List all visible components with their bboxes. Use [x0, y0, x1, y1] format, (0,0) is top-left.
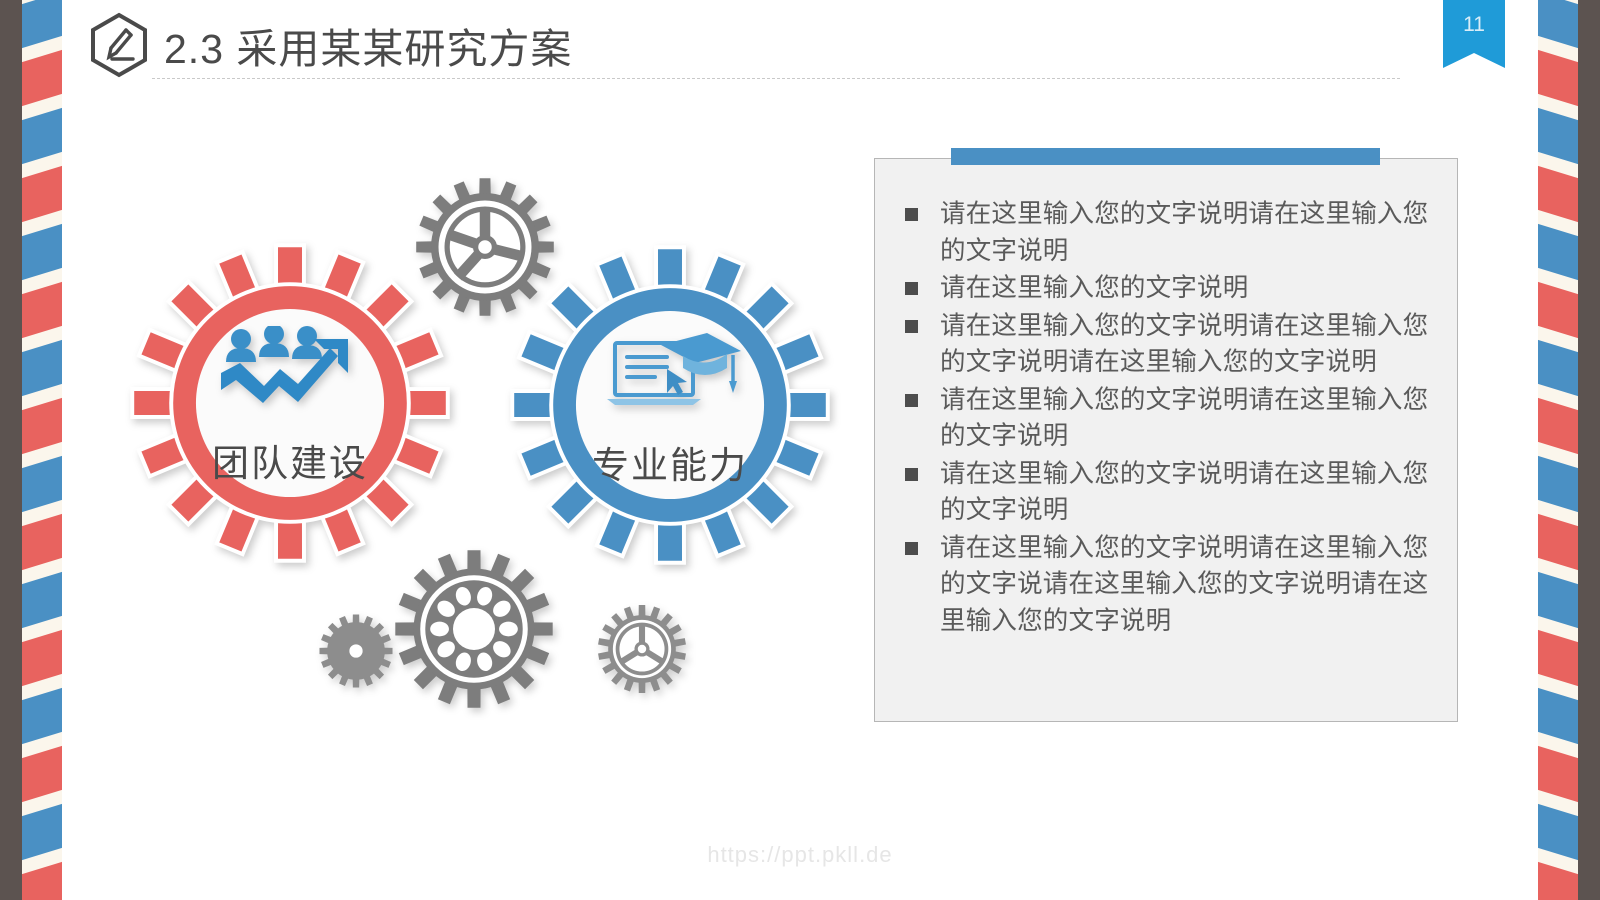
airmail-stripe [1538, 336, 1578, 401]
bullet-item: 请在这里输入您的文字说明请在这里输入您的文字说明请在这里输入您的文字说明 [905, 308, 1445, 381]
bullet-list: 请在这里输入您的文字说明请在这里输入您的文字说明请在这里输入您的文字说明请在这里… [905, 196, 1445, 640]
airmail-stripe [1538, 742, 1578, 807]
airmail-stripe [1538, 626, 1578, 691]
bullet-square-icon [905, 208, 918, 221]
bullet-item: 请在这里输入您的文字说明请在这里输入您的文字说明 [905, 382, 1445, 455]
bullet-text: 请在这里输入您的文字说明请在这里输入您的文字说请在这里输入您的文字说明请在这里输… [940, 530, 1445, 640]
bullet-square-icon [905, 542, 918, 555]
bullet-item: 请在这里输入您的文字说明请在这里输入您的文字说明 [905, 456, 1445, 529]
airmail-stripe [22, 394, 62, 459]
airmail-stripe [1538, 46, 1578, 111]
slide: 2.3 采用某某研究方案 11 [0, 0, 1600, 900]
bullet-text: 请在这里输入您的文字说明请在这里输入您的文字说明 [940, 382, 1445, 455]
bullet-text: 请在这里输入您的文字说明请在这里输入您的文字说明 [940, 196, 1445, 269]
panel-accent-bar [951, 148, 1380, 165]
bullet-text: 请在这里输入您的文字说明 [940, 270, 1445, 307]
airmail-stripe [22, 162, 62, 227]
decor-gear-small-spoked [595, 602, 689, 696]
airmail-stripe [22, 336, 62, 401]
airmail-stripe [22, 0, 62, 52]
airmail-stripe [22, 278, 62, 343]
airmail-stripe [22, 46, 62, 111]
gear-label-competence: 专业能力 [505, 435, 835, 489]
hexagon-pencil-icon [88, 12, 150, 78]
bullet-square-icon [905, 282, 918, 295]
left-edge-bar [0, 0, 22, 900]
airmail-stripe [22, 742, 62, 807]
footer-watermark: https://ppt.pkll.de [0, 842, 1600, 868]
airmail-stripe [1538, 0, 1578, 52]
airmail-stripe [22, 104, 62, 169]
gear-diagram: 团队建设 [105, 150, 895, 720]
bullet-item: 请在这里输入您的文字说明请在这里输入您的文字说请在这里输入您的文字说明请在这里输… [905, 530, 1445, 640]
page-title: 2.3 采用某某研究方案 [164, 15, 572, 75]
bullet-square-icon [905, 468, 918, 481]
bullet-text: 请在这里输入您的文字说明请在这里输入您的文字说明 [940, 456, 1445, 529]
bullet-square-icon [905, 394, 918, 407]
bullet-item: 请在这里输入您的文字说明 [905, 270, 1445, 307]
decor-gear-small-solid [317, 612, 395, 690]
airmail-stripe [1538, 684, 1578, 749]
team-growth-arrow-icon [218, 326, 363, 406]
right-edge-bar [1578, 0, 1600, 900]
bullet-item: 请在这里输入您的文字说明请在这里输入您的文字说明 [905, 196, 1445, 269]
bullet-text: 请在这里输入您的文字说明请在这里输入您的文字说明请在这里输入您的文字说明 [940, 308, 1445, 381]
airmail-stripe [22, 626, 62, 691]
airmail-stripe [1538, 394, 1578, 459]
airmail-stripe [22, 510, 62, 575]
right-airmail-stripes [1538, 0, 1578, 900]
airmail-stripe [22, 568, 62, 633]
airmail-stripe [1538, 452, 1578, 517]
airmail-stripe [1538, 278, 1578, 343]
title-divider [152, 78, 1400, 79]
left-airmail-stripes [22, 0, 62, 900]
laptop-graduation-cap-icon [605, 325, 745, 410]
airmail-stripe [1538, 162, 1578, 227]
airmail-stripe [22, 452, 62, 517]
airmail-stripe [22, 684, 62, 749]
gear-label-team: 团队建设 [125, 433, 455, 487]
gear-professional-ability[interactable]: 专业能力 [505, 240, 835, 570]
bullet-square-icon [905, 320, 918, 333]
airmail-stripe [1538, 104, 1578, 169]
slide-header: 2.3 采用某某研究方案 [88, 12, 572, 78]
gear-team-building[interactable]: 团队建设 [125, 238, 455, 568]
airmail-stripe [1538, 510, 1578, 575]
decor-gear-bottom-bearing [390, 545, 558, 713]
airmail-stripe [1538, 220, 1578, 285]
airmail-stripe [22, 220, 62, 285]
airmail-stripe [1538, 568, 1578, 633]
